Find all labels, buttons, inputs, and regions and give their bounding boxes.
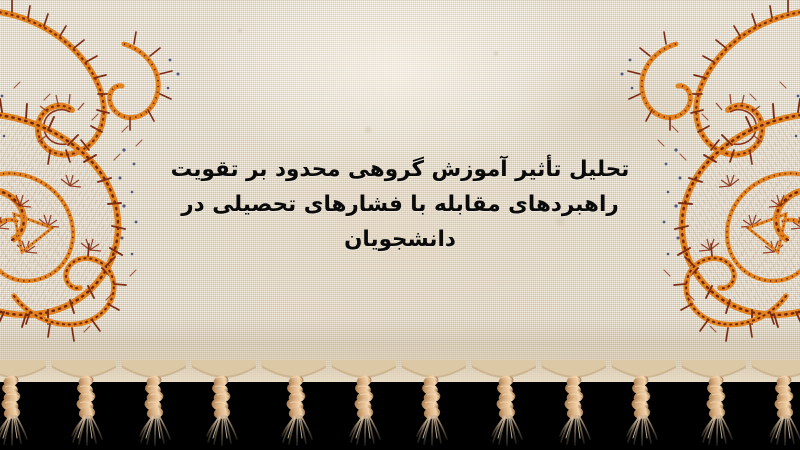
fringe-tassel: [192, 360, 256, 450]
fringe-tassel: [0, 360, 46, 450]
title-line-3: دانشجویان: [165, 222, 635, 257]
slide-title: تحلیل تأثیر آموزش گروهی محدود بر تقویت ر…: [165, 152, 635, 257]
title-card: تحلیل تأثیر آموزش گروهی محدود بر تقویت ر…: [0, 0, 800, 450]
fringe-tassel: [262, 360, 326, 450]
fringe-tassel: [752, 360, 800, 450]
fringe-tassel: [402, 360, 466, 450]
fringe-tassel: [52, 360, 116, 450]
tassel-fringe: [0, 360, 800, 450]
fringe-tassel: [682, 360, 746, 450]
fringe-tassel: [472, 360, 536, 450]
title-line-2: راهبردهای مقابله با فشارهای تحصیلی در: [165, 187, 635, 222]
fringe-tassel: [332, 360, 396, 450]
fringe-tassel: [122, 360, 186, 450]
fringe-tassel: [612, 360, 676, 450]
fringe-tassel: [542, 360, 606, 450]
title-line-1: تحلیل تأثیر آموزش گروهی محدود بر تقویت: [165, 152, 635, 187]
